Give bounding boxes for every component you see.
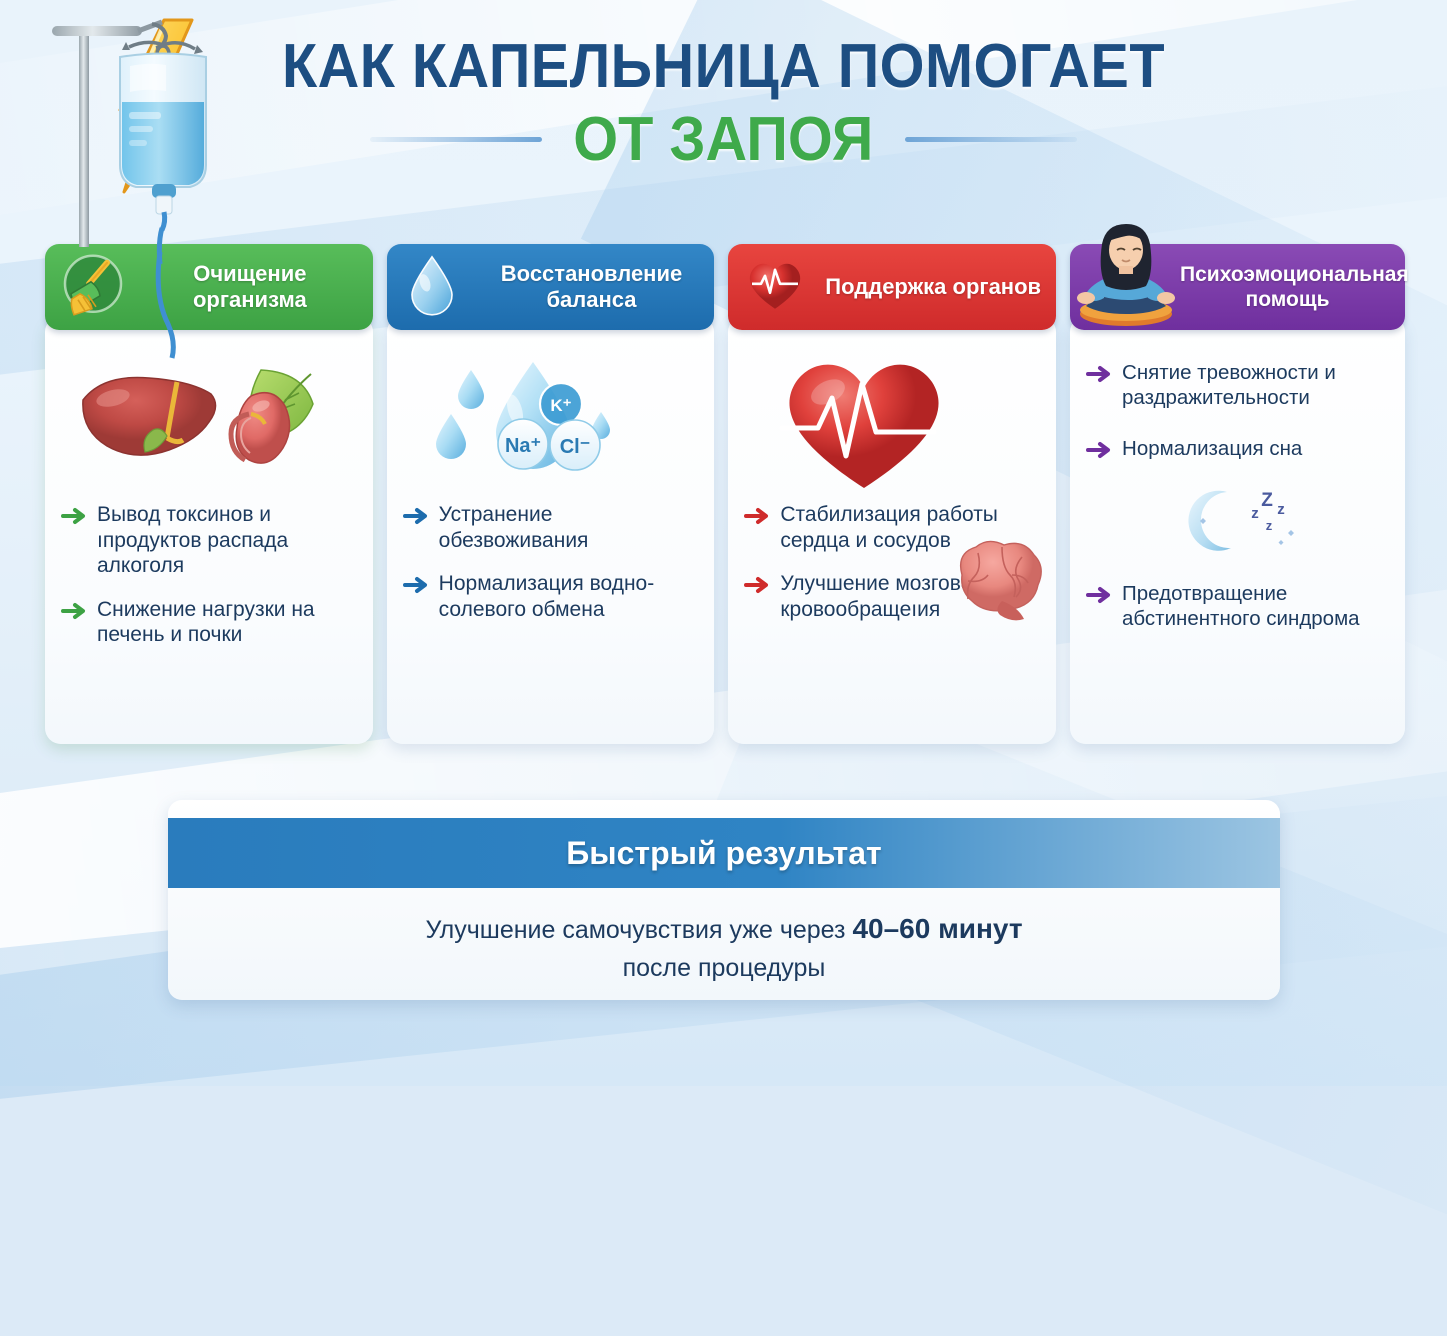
fast-result-body: Улучшение самочувствия уже через 40–60 м… [168, 888, 1280, 986]
liver-kidney-leaf-illustration [45, 346, 373, 496]
drop-label-na: Na⁺ [505, 435, 541, 457]
card-balance-title: Восстановление баланса [479, 261, 705, 314]
benefit-cards: Очищение организма [45, 244, 1405, 744]
title-line-2: ОТ ЗАПОЯ [573, 107, 873, 172]
bullet-text: Снижение нагрузки на печень и почки [97, 597, 359, 648]
bullet-text: Снятие тревожности и раздражительности [1122, 360, 1391, 410]
title-rule-left [370, 137, 542, 142]
arrow-right-icon [403, 507, 429, 530]
svg-text:z: z [1265, 518, 1272, 533]
arrow-right-icon [61, 507, 87, 530]
moon-sleep-zzz-illustration: Z z z z [1086, 484, 1391, 559]
card-balance-header: Восстановление баланса [387, 244, 715, 330]
card-cleansing-body: Вывод токсинов и ıпродуктов распада алко… [45, 316, 373, 744]
meditating-woman-icon [1072, 222, 1180, 332]
heart-with-pulse-illustration [728, 346, 1056, 496]
bullet-text: Предотвращение абстинентного синдрома [1122, 581, 1391, 631]
bullet-text: Нормализация водно-солевого обмена [439, 571, 701, 622]
card-organs-title: Поддержка органов [820, 274, 1046, 300]
drop-label-k: K⁺ [550, 396, 571, 415]
card-cleansing[interactable]: Очищение организма [45, 244, 373, 744]
svg-text:Z: Z [1261, 490, 1273, 511]
bullet-item: Устранение обезвоживания [403, 502, 701, 553]
card-psycho-body: Снятие тревожности и раздражительности Н… [1070, 316, 1405, 744]
card-organs-bullets: Стабилизация работы сердца и сосудов Улу… [728, 496, 1056, 632]
svg-text:z: z [1277, 501, 1285, 518]
drop-label-cl: Cl⁻ [559, 436, 590, 458]
card-psycho-header: Психоэмоциональная помощь [1070, 244, 1405, 330]
card-balance-body: K⁺ Na⁺ Cl⁻ Устранение обезвоживания [387, 316, 715, 744]
bullet-item: Снятие тревожности и раздражительности [1086, 360, 1391, 410]
water-drop-icon [401, 249, 463, 325]
fast-result-highlight: 40–60 минут [852, 913, 1022, 944]
card-psycho-bullets: Снятие тревожности и раздражительности Н… [1070, 354, 1405, 641]
bullet-text: Нормализация сна [1122, 436, 1302, 461]
fast-result-banner[interactable]: Быстрый результат Улучшение самочувствия… [168, 800, 1280, 1000]
brain-illustration [942, 537, 1054, 628]
title-line-1: КАК КАПЕЛЬНИЦА ПОМОГАЕТ [51, 34, 1397, 99]
card-cleansing-bullets: Вывод токсинов и ıпродуктов распада алко… [45, 496, 373, 658]
bullet-item: Вывод токсинов и ıпродуктов распада алко… [61, 502, 359, 579]
bullet-item: Нормализация сна [1086, 436, 1391, 464]
bullet-text: Вывод токсинов и ıпродуктов распада алко… [97, 502, 359, 579]
fast-result-line-2: после процедуры [208, 952, 1240, 986]
svg-text:z: z [1251, 505, 1259, 522]
arrow-right-icon [744, 507, 770, 530]
heart-pulse-icon [742, 253, 808, 321]
fast-result-heading-text: Быстрый результат [566, 835, 881, 872]
bullet-item: Снижение нагрузки на печень и почки [61, 597, 359, 648]
card-cleansing-title: Очищение организма [137, 261, 363, 314]
bullet-item: Предотвращение абстинентного синдрома [1086, 581, 1391, 631]
card-organs[interactable]: Поддержка органов Стабилиза [728, 244, 1056, 744]
fast-result-line-1: Улучшение самочувствия уже через 40–60 м… [208, 910, 1240, 948]
arrow-right-icon [1086, 586, 1112, 609]
card-balance-bullets: Устранение обезвоживания Нормализация во… [387, 496, 715, 632]
iv-drip-illustration [34, 4, 234, 264]
fast-result-prefix: Улучшение самочувствия уже через [425, 916, 852, 944]
card-psycho[interactable]: Психоэмоциональная помощь Снятие тревожн… [1070, 244, 1405, 744]
card-psycho-title: Психоэмоциональная помощь [1180, 262, 1395, 312]
bullet-item: Нормализация водно-солевого обмена [403, 571, 701, 622]
bullet-text: Устранение обезвоживания [439, 502, 701, 553]
arrow-right-icon [744, 576, 770, 599]
arrow-right-icon [403, 576, 429, 599]
card-organs-body: Стабилизация работы сердца и сосудов Улу… [728, 316, 1056, 744]
card-balance[interactable]: Восстановление баланса [387, 244, 715, 744]
arrow-right-icon [61, 602, 87, 625]
card-organs-header: Поддержка органов [728, 244, 1056, 330]
arrow-right-icon [1086, 441, 1112, 464]
fast-result-heading: Быстрый результат [168, 818, 1280, 888]
arrow-right-icon [1086, 365, 1112, 388]
water-drops-electrolytes-illustration: K⁺ Na⁺ Cl⁻ [387, 346, 715, 496]
title-rule-right [905, 137, 1077, 142]
